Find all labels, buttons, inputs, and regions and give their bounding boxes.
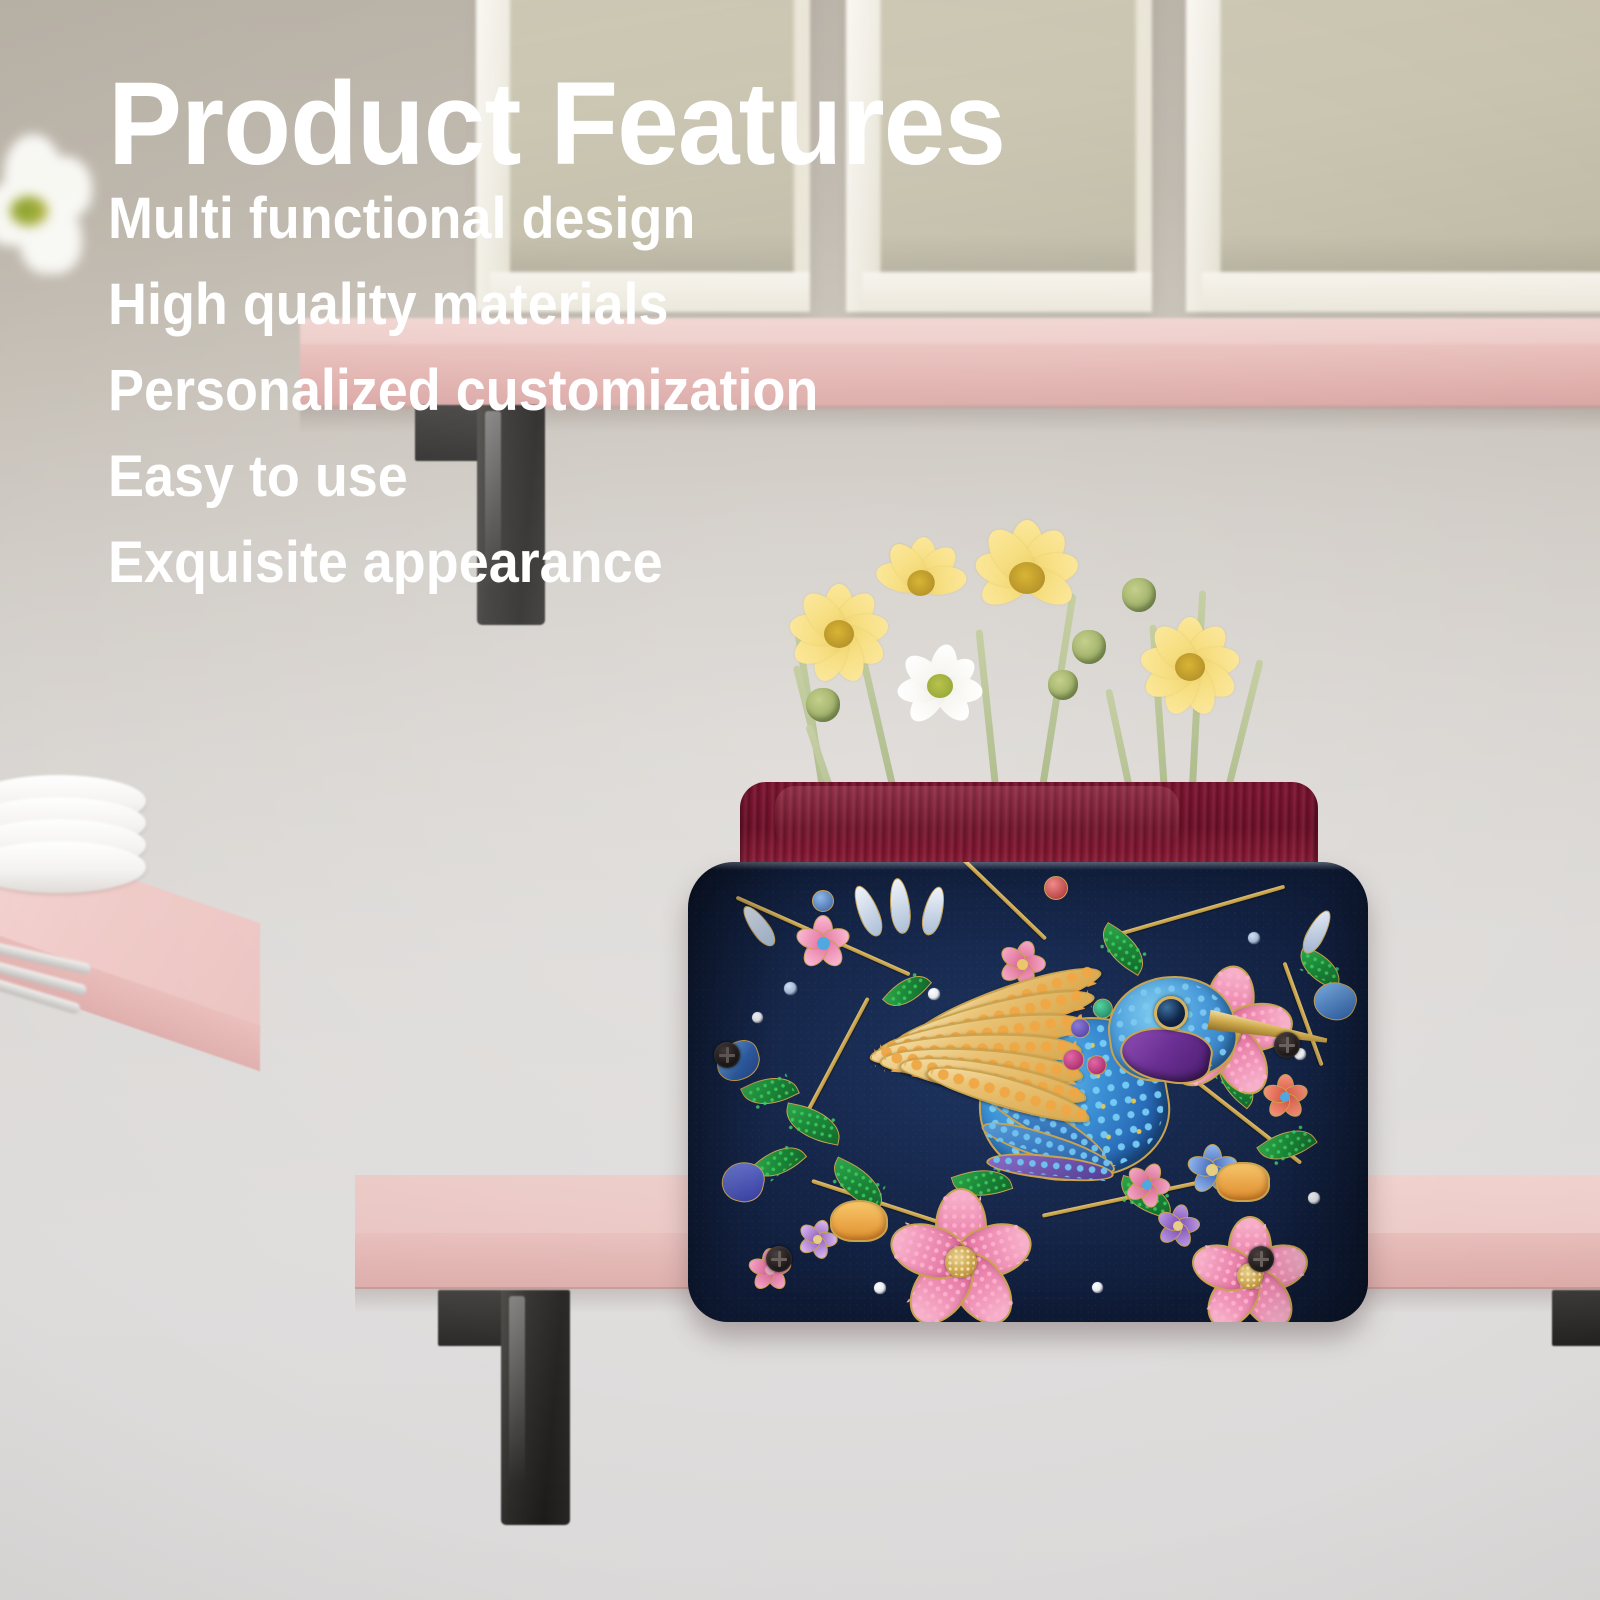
diamond-painting-panel[interactable] <box>688 862 1368 1322</box>
white-flower <box>892 646 988 730</box>
flower-bud <box>1122 578 1156 612</box>
product-feature-image: Product Features Multi functional design… <box>0 0 1600 1600</box>
flower-bud <box>1048 670 1078 700</box>
flower-bud <box>1072 630 1106 664</box>
flower-bud <box>806 688 840 722</box>
yellow-flower <box>964 522 1090 630</box>
yellow-flower <box>1134 618 1246 716</box>
product-flower-vase[interactable] <box>688 782 1368 1322</box>
